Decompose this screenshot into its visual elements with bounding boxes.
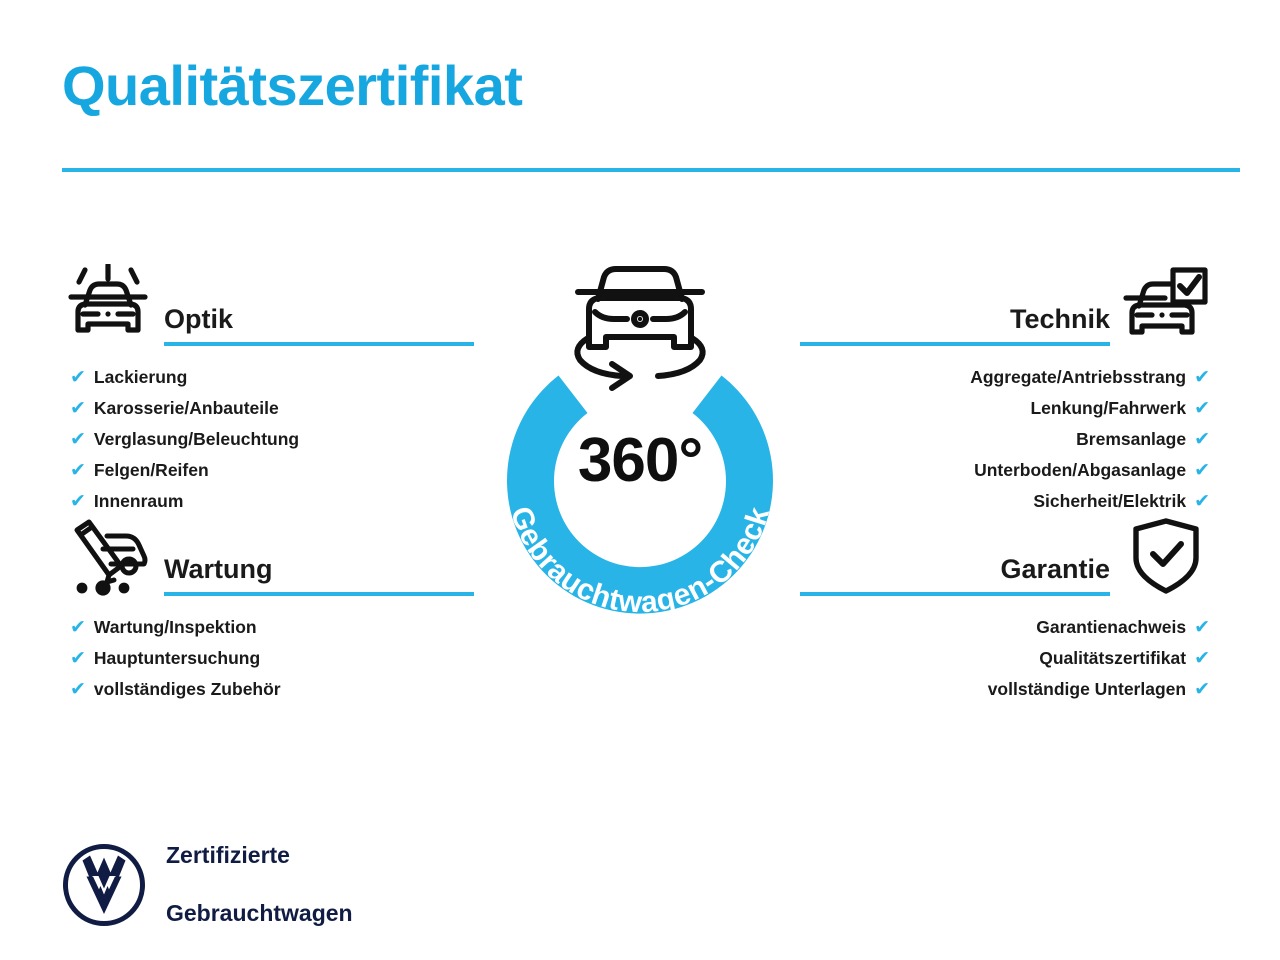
check-icon: ✔ (1194, 644, 1210, 674)
section-underline-garantie (800, 592, 1110, 596)
car-front-checkbox-icon (1120, 262, 1212, 346)
list-item: ✔ Felgen/Reifen (62, 455, 474, 486)
check-icon: ✔ (70, 456, 86, 486)
list-item: ✔ Wartung/Inspektion (62, 612, 474, 643)
list-item-label: Lenkung/Fahrwerk (1030, 393, 1186, 423)
section-underline-wartung (164, 592, 474, 596)
list-item: ✔ Hauptuntersuchung (62, 643, 474, 674)
vw-text-line2: Gebrauchtwagen (166, 899, 353, 928)
check-icon: ✔ (1194, 363, 1210, 393)
vw-certified-text: Zertifizierte Gebrauchtwagen (166, 812, 353, 957)
shield-check-icon (1120, 512, 1212, 596)
section-optik: Optik ✔ Lackierung ✔ Karosserie/Anbautei… (62, 258, 474, 517)
section-garantie: Garantie ✔ Garantienachweis ✔ Qualitätsz… (800, 508, 1212, 705)
check-icon: ✔ (1194, 394, 1210, 424)
list-item-label: Wartung/Inspektion (94, 612, 257, 642)
list-item-label: Qualitätszertifikat (1039, 643, 1186, 673)
list-item-label: Verglasung/Beleuchtung (94, 424, 299, 454)
list-item: ✔ vollständige Unterlagen (800, 674, 1212, 705)
check-icon: ✔ (70, 613, 86, 643)
car-service-pen-icon (62, 512, 154, 596)
volkswagen-logo (62, 843, 146, 927)
check-icon: ✔ (70, 644, 86, 674)
vw-certified-lockup: Zertifizierte Gebrauchtwagen (62, 812, 353, 957)
list-item-label: vollständige Unterlagen (988, 674, 1186, 704)
list-item-label: vollständiges Zubehör (94, 674, 281, 704)
check-icon: ✔ (70, 363, 86, 393)
page-title: Qualitätszertifikat (62, 55, 522, 117)
list-item: ✔ Karosserie/Anbauteile (62, 393, 474, 424)
list-item: ✔ Verglasung/Beleuchtung (62, 424, 474, 455)
section-title-optik: Optik (164, 305, 474, 342)
check-icon: ✔ (70, 394, 86, 424)
car-front-shine-icon (62, 262, 154, 346)
section-title-garantie: Garantie (800, 555, 1110, 592)
section-wartung: Wartung ✔ Wartung/Inspektion ✔ Hauptunte… (62, 508, 474, 705)
section-title-wartung: Wartung (164, 555, 474, 592)
list-item-label: Karosserie/Anbauteile (94, 393, 279, 423)
section-technik: Technik ✔ Aggregate/Antriebsstrang ✔ Len… (800, 258, 1212, 517)
title-divider (62, 168, 1240, 172)
list-item-label: Garantienachweis (1036, 612, 1186, 642)
check-icon: ✔ (1194, 675, 1210, 705)
checklist-technik: ✔ Aggregate/Antriebsstrang ✔ Lenkung/Fah… (800, 362, 1212, 517)
checklist-optik: ✔ Lackierung ✔ Karosserie/Anbauteile ✔ V… (62, 362, 474, 517)
section-title-technik: Technik (800, 305, 1110, 342)
check-icon: ✔ (70, 425, 86, 455)
checklist-garantie: ✔ Garantienachweis ✔ Qualitätszertifikat… (800, 612, 1212, 705)
list-item-label: Felgen/Reifen (94, 455, 209, 485)
list-item: ✔ Bremsanlage (800, 424, 1212, 455)
check-icon: ✔ (1194, 613, 1210, 643)
list-item: ✔ vollständiges Zubehör (62, 674, 474, 705)
gebrauchtwagen-check-badge: Gebrauchtwagen-Check 360° (462, 252, 818, 632)
list-item-label: Bremsanlage (1076, 424, 1186, 454)
badge-center-label: 360° (462, 430, 818, 492)
list-item: ✔ Lackierung (62, 362, 474, 393)
check-icon: ✔ (1194, 425, 1210, 455)
car-rotate-360-icon (577, 269, 702, 388)
list-item: ✔ Qualitätszertifikat (800, 643, 1212, 674)
section-underline-optik (164, 342, 474, 346)
list-item-label: Hauptuntersuchung (94, 643, 260, 673)
list-item: ✔ Aggregate/Antriebsstrang (800, 362, 1212, 393)
list-item: ✔ Unterboden/Abgasanlage (800, 455, 1212, 486)
section-underline-technik (800, 342, 1110, 346)
list-item-label: Aggregate/Antriebsstrang (970, 362, 1186, 392)
list-item-label: Unterboden/Abgasanlage (974, 455, 1186, 485)
checklist-wartung: ✔ Wartung/Inspektion ✔ Hauptuntersuchung… (62, 612, 474, 705)
list-item-label: Lackierung (94, 362, 187, 392)
check-icon: ✔ (70, 675, 86, 705)
vw-text-line1: Zertifizierte (166, 841, 353, 870)
list-item: ✔ Lenkung/Fahrwerk (800, 393, 1212, 424)
check-icon: ✔ (1194, 456, 1210, 486)
list-item: ✔ Garantienachweis (800, 612, 1212, 643)
